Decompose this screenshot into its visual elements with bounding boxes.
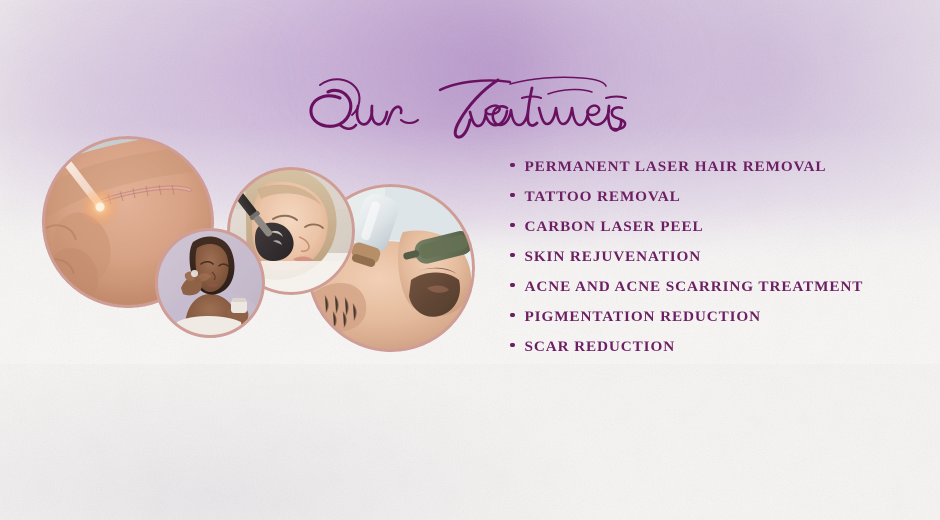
treatment-label: PIGMENTATION REDUCTION [525, 308, 762, 326]
bullet-icon [510, 283, 515, 288]
page-title-script: Our Treatments [300, 68, 660, 140]
treatment-label: SCAR REDUCTION [525, 338, 676, 356]
bullet-icon [510, 223, 515, 228]
photo-circle-skincare-application [155, 228, 265, 338]
treatments-list: PERMANENT LASER HAIR REMOVAL TATTOO REMO… [510, 158, 930, 368]
page-title: Our Treatments [300, 68, 660, 140]
treatment-label: CARBON LASER PEEL [525, 218, 704, 236]
bullet-icon [510, 163, 515, 168]
skincare-application-image [155, 228, 265, 338]
treatment-label: TATTOO REMOVAL [525, 188, 681, 206]
bullet-icon [510, 193, 515, 198]
list-item: PIGMENTATION REDUCTION [510, 308, 930, 338]
list-item: ACNE AND ACNE SCARRING TREATMENT [510, 278, 930, 308]
treatment-label: ACNE AND ACNE SCARRING TREATMENT [525, 278, 864, 296]
treatment-label: SKIN REJUVENATION [525, 248, 702, 266]
list-item: TATTOO REMOVAL [510, 188, 930, 218]
list-item: SCAR REDUCTION [510, 338, 930, 368]
list-item: SKIN REJUVENATION [510, 248, 930, 278]
bullet-icon [510, 253, 515, 258]
treatments-poster: Our Treatments [0, 0, 940, 520]
list-item: CARBON LASER PEEL [510, 218, 930, 248]
bullet-icon [510, 313, 515, 318]
bullet-icon [510, 343, 515, 348]
treatment-label: PERMANENT LASER HAIR REMOVAL [525, 158, 827, 176]
list-item: PERMANENT LASER HAIR REMOVAL [510, 158, 930, 188]
